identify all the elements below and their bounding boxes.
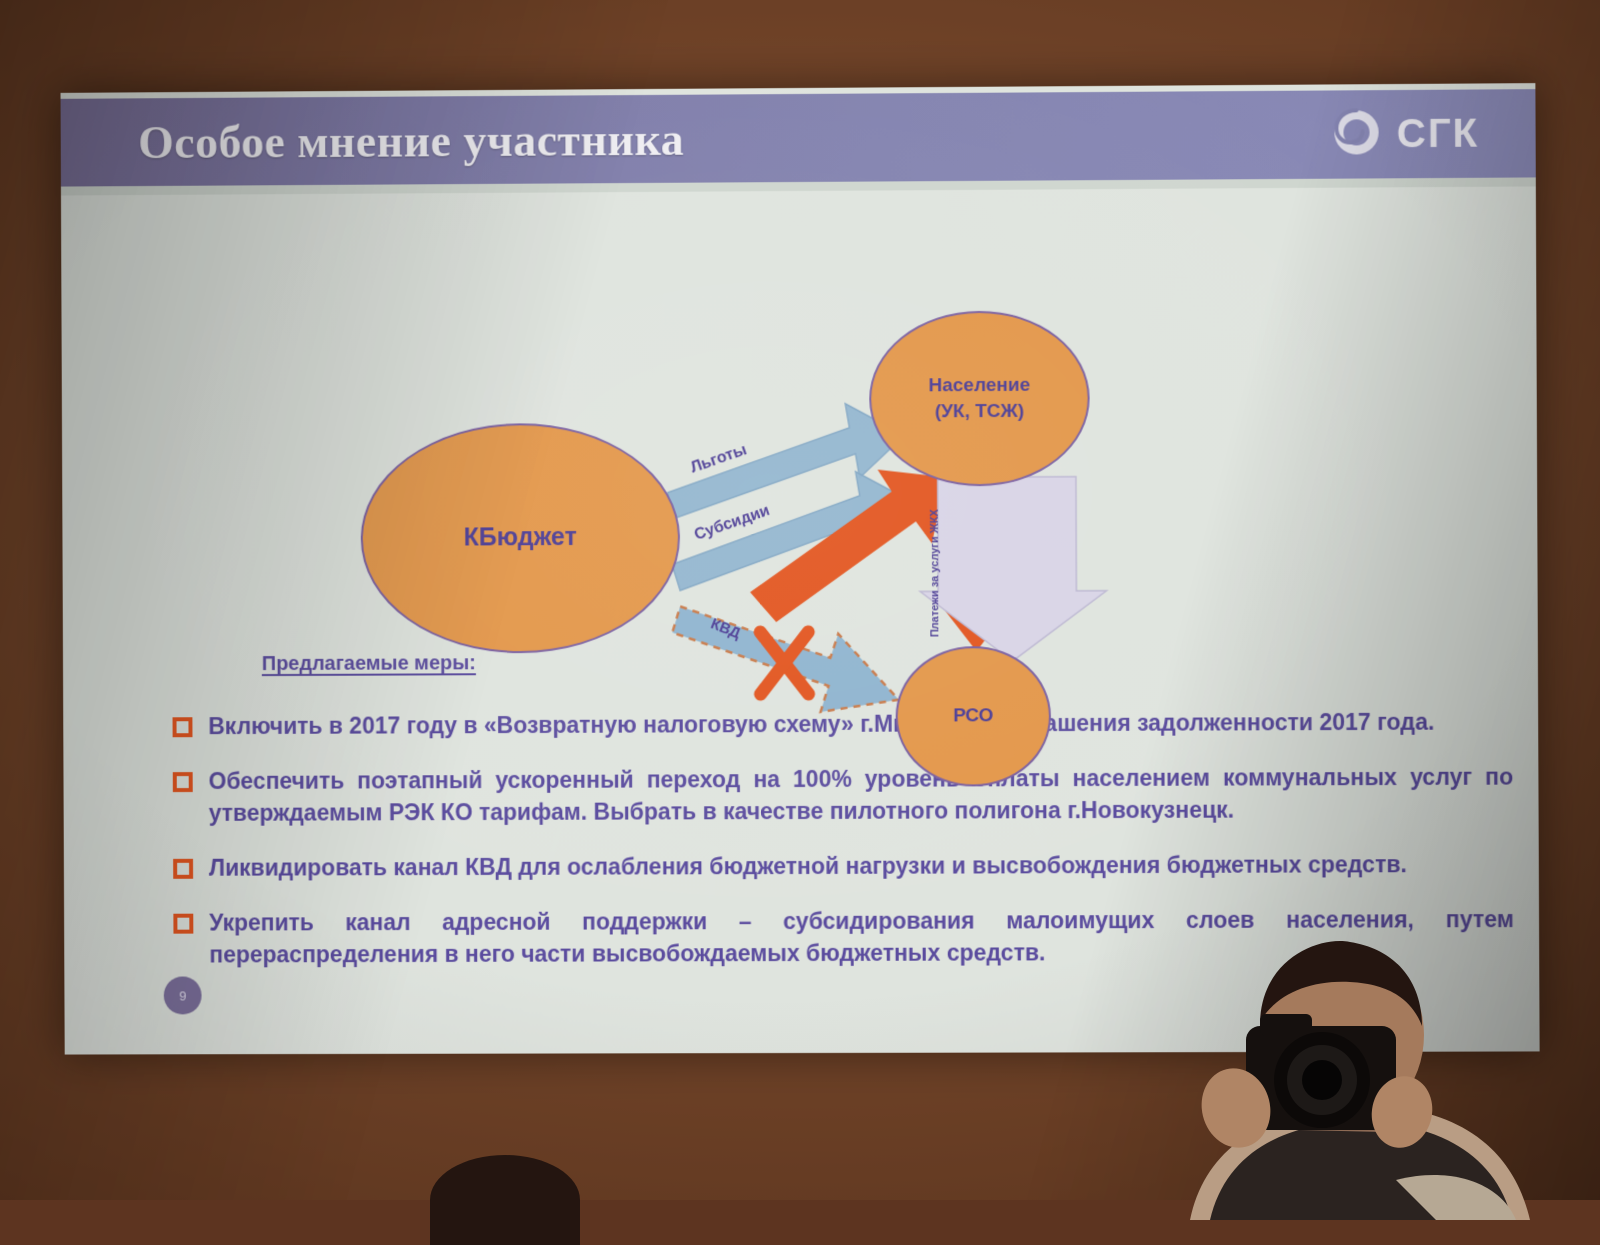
presentation-slide: Особое мнение участника СГК (61, 83, 1540, 1054)
arrow-payment-zhkh (920, 477, 1107, 662)
bullet-square-icon (173, 772, 193, 792)
diagram-node-kbudget: КБюджет (360, 423, 680, 654)
list-item: Ликвидировать канал КВД для ослабления б… (173, 848, 1514, 885)
list-item-text: Ликвидировать канал КВД для ослабления б… (209, 848, 1407, 884)
measures-heading: Предлагаемые меры: (262, 652, 476, 676)
node-sublabel: (УК, ТСЖ) (935, 398, 1024, 424)
brand-name: СГК (1397, 111, 1480, 157)
swirl-logo-icon (1330, 106, 1383, 163)
audience-photographer (1150, 930, 1600, 1220)
brand-logo: СГК (1330, 105, 1501, 163)
list-item: Обеспечить поэтапный ускоренный переход … (173, 760, 1514, 830)
conference-room-backdrop: Особое мнение участника СГК (0, 0, 1600, 1200)
diagram-node-population: Население (УК, ТСЖ) (869, 310, 1090, 486)
node-label: КБюджет (464, 521, 577, 555)
page-title: Особое мнение участника (138, 112, 684, 168)
page-number-badge: 9 (164, 976, 202, 1014)
node-label: Население (928, 373, 1030, 399)
list-item: Включить в 2017 году в «Возвратную налог… (172, 705, 1513, 743)
diagram-node-rso: РСО (895, 646, 1051, 787)
bullet-square-icon (173, 913, 193, 933)
node-label: РСО (953, 703, 993, 729)
audience-head-silhouette (430, 1155, 580, 1245)
bullet-square-icon (173, 859, 193, 879)
list-item-text: Включить в 2017 году в «Возвратную налог… (208, 706, 1434, 743)
list-item-text: Обеспечить поэтапный ускоренный переход … (209, 760, 1514, 830)
bullet-square-icon (173, 717, 193, 737)
slide-header: Особое мнение участника СГК (61, 89, 1536, 186)
